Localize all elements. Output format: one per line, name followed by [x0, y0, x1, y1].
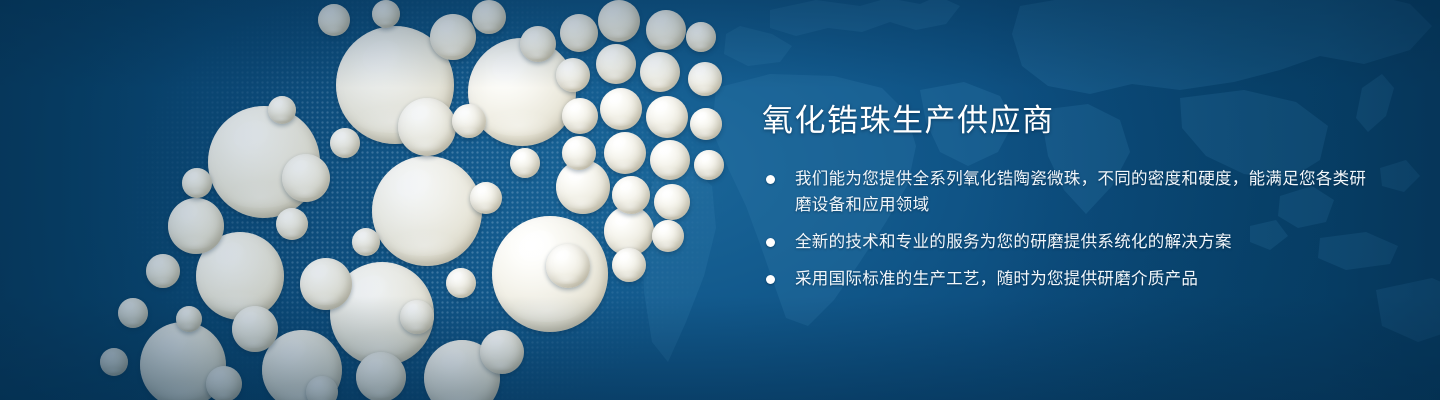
- list-item: 我们能为您提供全系列氧化锆陶瓷微珠，不同的密度和硬度，能满足您各类研磨设备和应用…: [762, 166, 1382, 218]
- bullet-dot-icon: [766, 175, 775, 184]
- bullet-dot-icon: [766, 275, 775, 284]
- list-item-text: 采用国际标准的生产工艺，随时为您提供研磨介质产品: [795, 270, 1198, 288]
- feature-list: 我们能为您提供全系列氧化锆陶瓷微珠，不同的密度和硬度，能满足您各类研磨设备和应用…: [762, 166, 1382, 292]
- list-item-text: 我们能为您提供全系列氧化锆陶瓷微珠，不同的密度和硬度，能满足您各类研磨设备和应用…: [795, 170, 1366, 214]
- bullet-dot-icon: [766, 238, 775, 247]
- banner-title: 氧化锆珠生产供应商: [762, 104, 1382, 138]
- list-item: 采用国际标准的生产工艺，随时为您提供研磨介质产品: [762, 266, 1382, 292]
- hero-banner: 氧化锆珠生产供应商 我们能为您提供全系列氧化锆陶瓷微珠，不同的密度和硬度，能满足…: [0, 0, 1440, 400]
- banner-content: 氧化锆珠生产供应商 我们能为您提供全系列氧化锆陶瓷微珠，不同的密度和硬度，能满足…: [762, 104, 1382, 292]
- list-item: 全新的技术和专业的服务为您的研磨提供系统化的解决方案: [762, 229, 1382, 255]
- list-item-text: 全新的技术和专业的服务为您的研磨提供系统化的解决方案: [795, 233, 1232, 251]
